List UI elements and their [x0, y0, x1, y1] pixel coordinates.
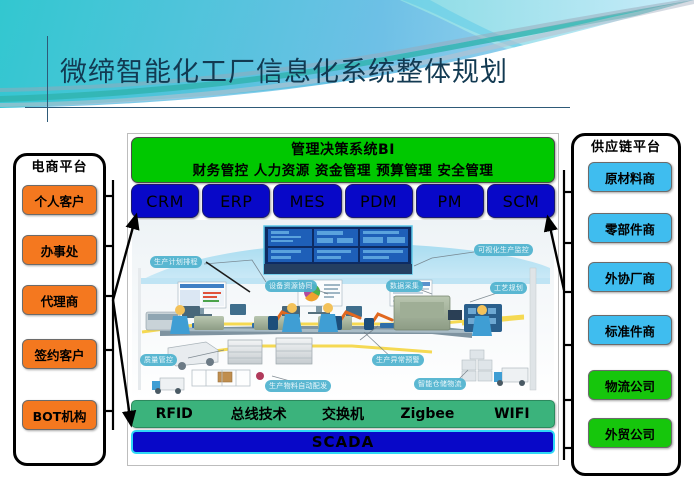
app-module-pdm[interactable]: PDM: [345, 184, 413, 218]
network-item-4: WIFI: [470, 406, 554, 422]
page-title: 微缔智能化工厂信息化系统整体规划: [60, 58, 508, 88]
ecommerce-item-2[interactable]: 代理商: [22, 285, 97, 315]
supplychain-item-0[interactable]: 原材料商: [588, 162, 672, 192]
sidebar-supply-chain-platform: 供应链平台 原材料商零部件商外协厂商标准件商物流公司外贸公司: [571, 133, 681, 476]
network-technology-bar: RFID总线技术交换机ZigbeeWIFI: [131, 400, 555, 428]
factory-label-4: 工艺规划: [490, 282, 527, 294]
scada-bar: SCADA: [131, 430, 555, 454]
factory-label-2: 设备资源协同: [265, 280, 317, 292]
network-item-2: 交换机: [301, 404, 385, 424]
ecommerce-item-4[interactable]: BOT机构: [22, 400, 97, 430]
app-module-erp[interactable]: ERP: [202, 184, 270, 218]
title-rule-horizontal: [25, 107, 570, 108]
factory-label-7: 生产物料自动配发: [265, 380, 331, 392]
network-item-0: RFID: [132, 406, 216, 422]
ecommerce-item-1[interactable]: 办事处: [22, 235, 97, 265]
supplychain-item-1[interactable]: 零部件商: [588, 213, 672, 243]
sidebar-right-title: 供应链平台: [574, 136, 678, 156]
factory-label-1: 可视化生产监控: [474, 244, 533, 256]
supplychain-item-3[interactable]: 标准件商: [588, 315, 672, 345]
title-rule-vertical: [47, 36, 48, 122]
factory-label-6: 生产异常预警: [372, 354, 424, 366]
app-module-scm[interactable]: SCM: [487, 184, 555, 218]
bi-decision-header: 管理决策系统BI 财务管控 人力资源 资金管理 预算管理 安全管理: [131, 137, 555, 183]
app-module-crm[interactable]: CRM: [131, 184, 199, 218]
supplychain-item-4[interactable]: 物流公司: [588, 370, 672, 400]
factory-label-0: 生产计划排程: [150, 256, 202, 268]
app-module-mes[interactable]: MES: [273, 184, 341, 218]
bi-title: 管理决策系统BI: [132, 138, 554, 161]
header-banner: 微缔智能化工厂信息化系统整体规划: [0, 0, 694, 122]
factory-label-8: 智能仓储物流: [414, 378, 466, 390]
supplychain-item-2[interactable]: 外协厂商: [588, 262, 672, 292]
sidebar-ecommerce-platform: 电商平台 个人客户办事处代理商签约客户BOT机构: [13, 153, 106, 466]
smart-factory-illustration: 生产计划排程可视化生产监控设备资源协同数据采集工艺规划质量管控生产异常预警生产物…: [132, 220, 554, 400]
factory-label-5: 质量管控: [140, 354, 177, 366]
ecommerce-item-3[interactable]: 签约客户: [22, 339, 97, 369]
supplychain-item-5[interactable]: 外贸公司: [588, 418, 672, 448]
ecommerce-item-0[interactable]: 个人客户: [22, 185, 97, 215]
bi-subtitle: 财务管控 人力资源 资金管理 预算管理 安全管理: [132, 161, 554, 181]
app-module-pm[interactable]: PM: [416, 184, 484, 218]
network-item-3: Zigbee: [385, 406, 469, 422]
application-module-row: CRMERPMESPDMPMSCM: [131, 184, 555, 218]
network-item-1: 总线技术: [216, 404, 300, 424]
sidebar-left-title: 电商平台: [16, 156, 103, 176]
factory-label-3: 数据采集: [386, 280, 423, 292]
